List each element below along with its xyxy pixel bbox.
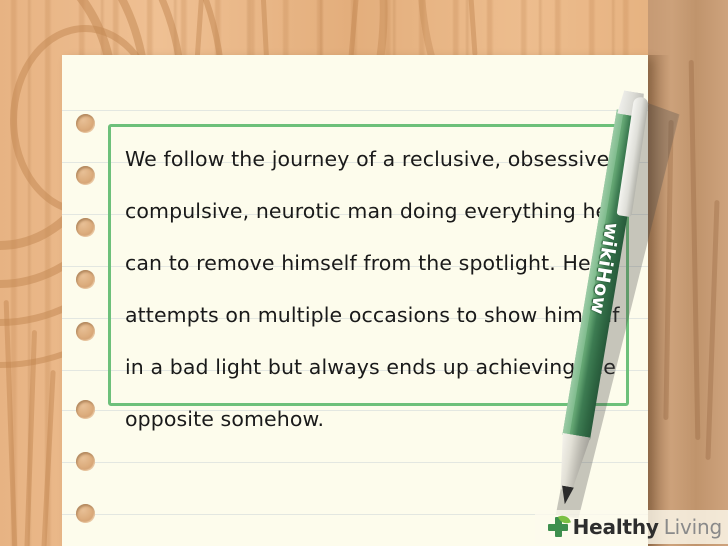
paper-rule-line (62, 110, 648, 111)
paper-punch-hole (76, 270, 95, 289)
paper-punch-hole (76, 322, 95, 341)
note-body-text: We follow the journey of a reclusive, ob… (125, 133, 635, 445)
watermark-brand-light: Living (664, 515, 722, 539)
watermark-brand-bold: Healthy (573, 515, 659, 539)
wood-grain-line (41, 370, 55, 546)
paper-punch-hole (76, 400, 95, 419)
desk-shadowed-wood-strip (648, 0, 728, 546)
wood-grain-line (705, 200, 719, 460)
paper-punch-hole (76, 166, 95, 185)
paper-punch-hole (76, 452, 95, 471)
paper-punch-hole (76, 218, 95, 237)
pen-cone (554, 433, 591, 493)
green-cross-leaf-icon (547, 516, 569, 538)
paper-punch-hole (76, 114, 95, 133)
watermark: Healthy Living (535, 510, 728, 544)
wood-grain-line (689, 60, 701, 440)
paper-punch-hole (76, 504, 95, 523)
